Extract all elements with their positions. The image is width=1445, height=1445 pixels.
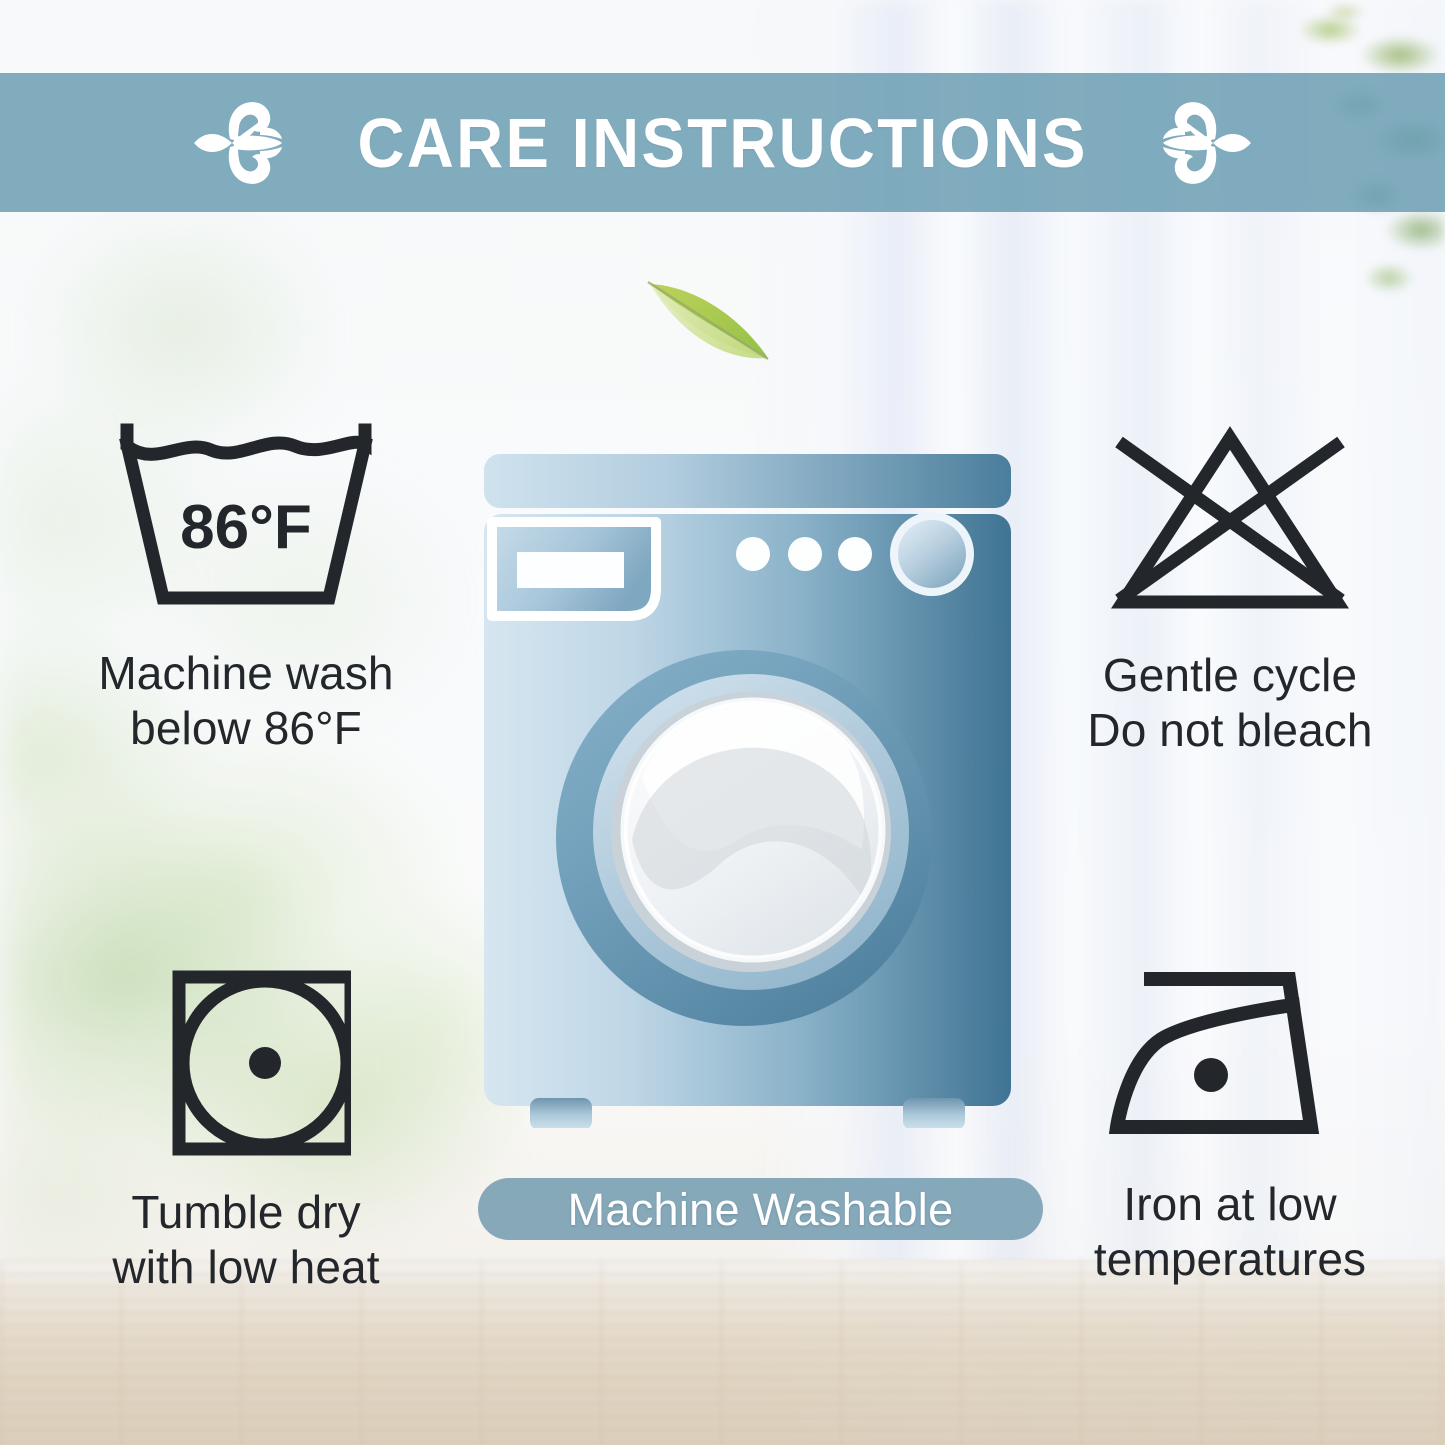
drawer-slot — [517, 552, 624, 588]
caption-line-1: Iron at low — [1094, 1177, 1366, 1232]
caption-iron: Iron at low temperatures — [1094, 1177, 1366, 1286]
detergent-drawer — [492, 522, 656, 616]
caption-line-1: Gentle cycle — [1087, 648, 1372, 703]
caption-line-2: Do not bleach — [1087, 703, 1372, 758]
iron-icon-wrap — [1105, 965, 1355, 1155]
caption-line-1: Tumble dry — [112, 1185, 379, 1240]
wash-temperature-value: 86°F — [180, 493, 312, 562]
tumble-dry-icon-wrap — [141, 965, 351, 1165]
wash-tub-icon: 86°F — [111, 420, 381, 620]
washing-machine-illustration — [470, 448, 1025, 1128]
caption-line-2: temperatures — [1094, 1232, 1366, 1287]
washer-top-lid — [484, 454, 1011, 508]
caption-line-2: with low heat — [112, 1240, 379, 1295]
caption-line-1: Machine wash — [98, 646, 393, 701]
care-symbol-tumble-dry: Tumble dry with low heat — [36, 965, 456, 1294]
care-symbol-machine-wash: 86°F Machine wash below 86°F — [36, 420, 456, 755]
washer-foot-left — [530, 1098, 592, 1128]
green-leaf-icon — [640, 272, 790, 372]
caption-do-not-bleach: Gentle cycle Do not bleach — [1087, 648, 1372, 757]
fleur-de-lis-icon — [1149, 89, 1269, 197]
triangle-crossed-bleach-icon — [1095, 420, 1365, 620]
header-banner: CARE INSTRUCTIONS — [0, 73, 1445, 212]
tumble-dry-one-dot-icon — [141, 965, 351, 1165]
fleur-de-lis-icon — [176, 89, 296, 197]
caption-line-2: below 86°F — [98, 701, 393, 756]
washer-door — [556, 650, 932, 1026]
care-symbol-iron: Iron at low temperatures — [1020, 965, 1440, 1286]
wash-tub-icon-wrap: 86°F — [111, 420, 381, 620]
bleach-icon-wrap — [1095, 420, 1365, 620]
indicator-light — [788, 537, 822, 571]
iron-one-dot-icon — [1105, 965, 1355, 1155]
care-instructions-graphic: CARE INSTRUCTIONS 86°F Machine wash — [0, 0, 1445, 1445]
page-title: CARE INSTRUCTIONS — [357, 108, 1087, 178]
status-badge-label: Machine Washable — [568, 1187, 954, 1232]
indicator-light — [838, 537, 872, 571]
washer-foot-right — [903, 1098, 965, 1128]
status-badge: Machine Washable — [478, 1178, 1043, 1240]
care-symbol-do-not-bleach: Gentle cycle Do not bleach — [1020, 420, 1440, 757]
caption-tumble-dry: Tumble dry with low heat — [112, 1185, 379, 1294]
caption-machine-wash: Machine wash below 86°F — [98, 646, 393, 755]
control-knob-icon — [890, 512, 974, 596]
indicator-light — [736, 537, 770, 571]
